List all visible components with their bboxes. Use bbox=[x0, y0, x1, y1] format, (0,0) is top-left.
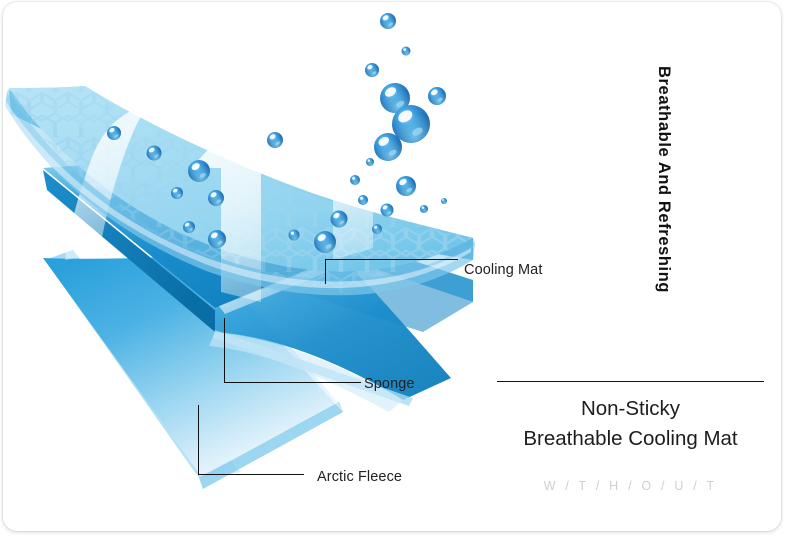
callout-label-arctic-fleece: Arctic Fleece bbox=[317, 469, 402, 485]
water-bubble bbox=[171, 187, 183, 199]
water-bubble bbox=[380, 13, 396, 29]
water-bubble bbox=[107, 126, 121, 140]
water-bubble bbox=[350, 175, 360, 185]
product-title-block: Non-Sticky Breathable Cooling Mat bbox=[483, 394, 778, 454]
water-bubble bbox=[381, 204, 394, 217]
water-bubble bbox=[331, 211, 348, 228]
water-bubble bbox=[372, 224, 382, 234]
water-bubble bbox=[147, 146, 162, 161]
callout-label-cooling-mat: Cooling Mat bbox=[464, 262, 542, 278]
water-bubble bbox=[289, 230, 300, 241]
leader-line-sponge bbox=[224, 382, 361, 383]
leader-stem-sponge bbox=[224, 318, 225, 383]
water-bubble bbox=[441, 198, 447, 204]
water-bubble bbox=[365, 63, 379, 77]
water-bubble bbox=[208, 190, 224, 206]
water-bubble bbox=[366, 158, 374, 166]
screenshot-root: Cooling Mat Sponge Arctic Fleece Breatha… bbox=[0, 0, 790, 539]
callout-label-sponge: Sponge bbox=[364, 376, 415, 392]
water-bubble bbox=[428, 87, 446, 105]
product-card-frame: Cooling Mat Sponge Arctic Fleece Breatha… bbox=[3, 2, 781, 531]
water-bubble bbox=[420, 205, 428, 213]
water-bubble bbox=[314, 231, 336, 253]
water-bubble bbox=[188, 160, 210, 182]
leader-stem-arctic-fleece bbox=[198, 405, 199, 475]
water-bubble bbox=[267, 132, 283, 148]
water-bubble bbox=[183, 221, 195, 233]
leader-line-cooling-mat bbox=[325, 259, 458, 260]
brand-wordmark: W / T / H / O / U / T bbox=[483, 479, 778, 493]
leader-stem-cooling-mat bbox=[325, 259, 326, 284]
product-title-line-1: Non-Sticky bbox=[483, 394, 778, 424]
product-title-line-2: Breathable Cooling Mat bbox=[483, 424, 778, 454]
title-divider-rule bbox=[497, 381, 764, 382]
water-bubble bbox=[208, 230, 226, 248]
leader-line-arctic-fleece bbox=[198, 474, 304, 475]
water-bubble bbox=[374, 133, 402, 161]
water-bubble bbox=[358, 195, 368, 205]
vertical-headline: Breathable And Refreshing bbox=[654, 66, 673, 293]
water-bubble bbox=[402, 47, 411, 56]
water-bubble bbox=[396, 176, 416, 196]
illustration-svg bbox=[3, 2, 503, 531]
layered-cooling-mat-illustration bbox=[3, 2, 503, 531]
